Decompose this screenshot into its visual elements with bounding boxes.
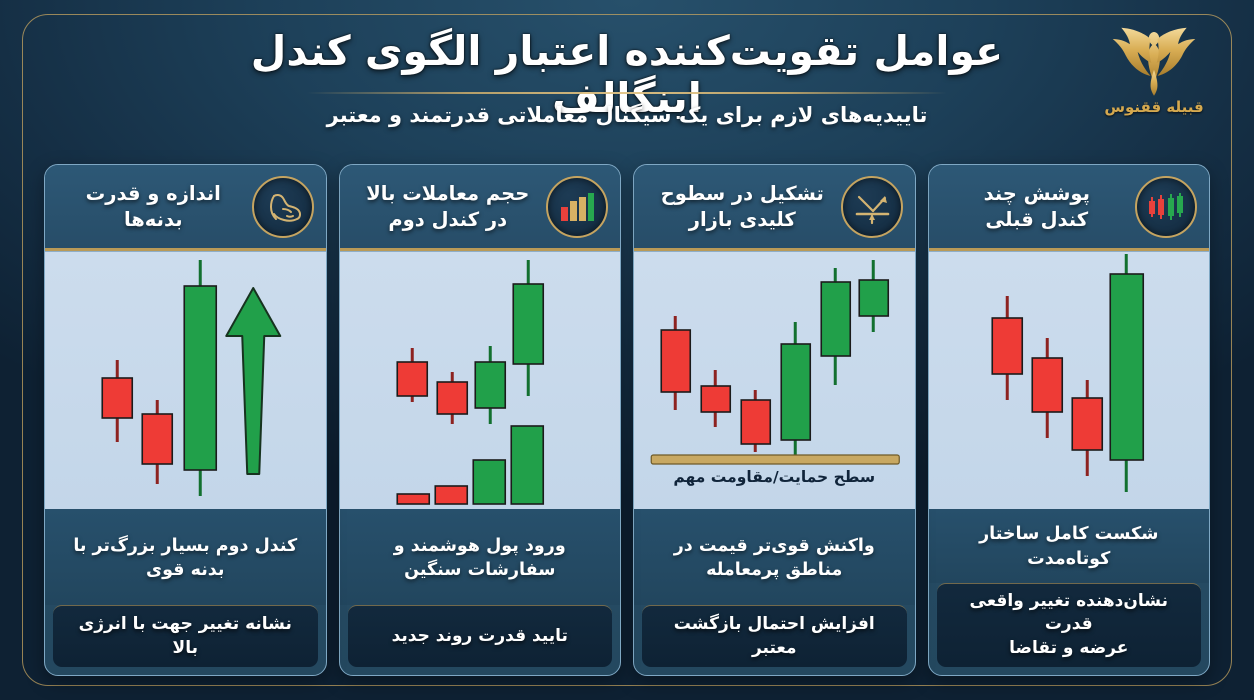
chart-candlestick-support: سطح حمایت/مقاومت مهم [634, 251, 915, 509]
card-footer: نشانه تغییر جهت با انرژی بالا [53, 605, 318, 667]
card-body-size-and-strength[interactable]: اندازه و قدرتبدنه‌ها [44, 164, 327, 676]
card-title: پوشش چندکندل قبلی [939, 181, 1136, 232]
card-multi-candle-coverage[interactable]: پوشش چندکندل قبلی [928, 164, 1211, 676]
infographic-page: عوامل تقویت‌کننده اعتبار الگوی کندل اینگ… [0, 0, 1254, 700]
brand-logo: قبیله ققنوس [1098, 18, 1210, 136]
card-title: تشکیل در سطوحکلیدی بازار [644, 181, 841, 232]
card-header: اندازه و قدرتبدنه‌ها [45, 165, 326, 251]
card-footer: افزایش احتمال بازگشت معتبر [642, 605, 907, 667]
brand-name: قبیله ققنوس [1104, 98, 1203, 116]
phoenix-icon [1111, 18, 1197, 96]
card-description: ورود پول هوشمند وسفارشات سنگین [340, 509, 621, 605]
title-divider [307, 92, 947, 94]
candlestick-chart-icon [1135, 176, 1197, 238]
card-footer: تایید قدرت روند جدید [348, 605, 613, 667]
muscle-icon [252, 176, 314, 238]
card-header: پوشش چندکندل قبلی [929, 165, 1210, 251]
header: عوامل تقویت‌کننده اعتبار الگوی کندل اینگ… [0, 0, 1254, 152]
up-arrow-icon [226, 288, 280, 474]
card-footer: نشان‌دهنده تغییر واقعی قدرتعرضه و تقاضا [937, 583, 1202, 667]
bar-chart-icon [546, 176, 608, 238]
card-description: واکنش قوی‌تر قیمت درمناطق پرمعامله [634, 509, 915, 605]
chart-candlestick [929, 251, 1210, 509]
card-grid: پوشش چندکندل قبلی [44, 164, 1210, 676]
card-high-volume-second-candle[interactable]: حجم معاملات بالادر کندل دوم [339, 164, 622, 676]
support-line-label: سطح حمایت/مقاومت مهم [634, 468, 915, 486]
card-description: کندل دوم بسیار بزرگ‌تر بابدنه قوی [45, 509, 326, 605]
bounce-level-icon [841, 176, 903, 238]
card-key-market-levels[interactable]: تشکیل در سطوحکلیدی بازار [633, 164, 916, 676]
card-title: اندازه و قدرتبدنه‌ها [55, 181, 252, 232]
chart-candlestick-volume [340, 251, 621, 509]
page-subtitle: تاییدیه‌های لازم برای یک سیگنال معاملاتی… [0, 103, 1254, 127]
chart-candlestick-arrow [45, 251, 326, 509]
card-header: حجم معاملات بالادر کندل دوم [340, 165, 621, 251]
card-header: تشکیل در سطوحکلیدی بازار [634, 165, 915, 251]
card-description: شکست کامل ساختارکوتاه‌مدت [929, 509, 1210, 583]
card-title: حجم معاملات بالادر کندل دوم [350, 181, 547, 232]
